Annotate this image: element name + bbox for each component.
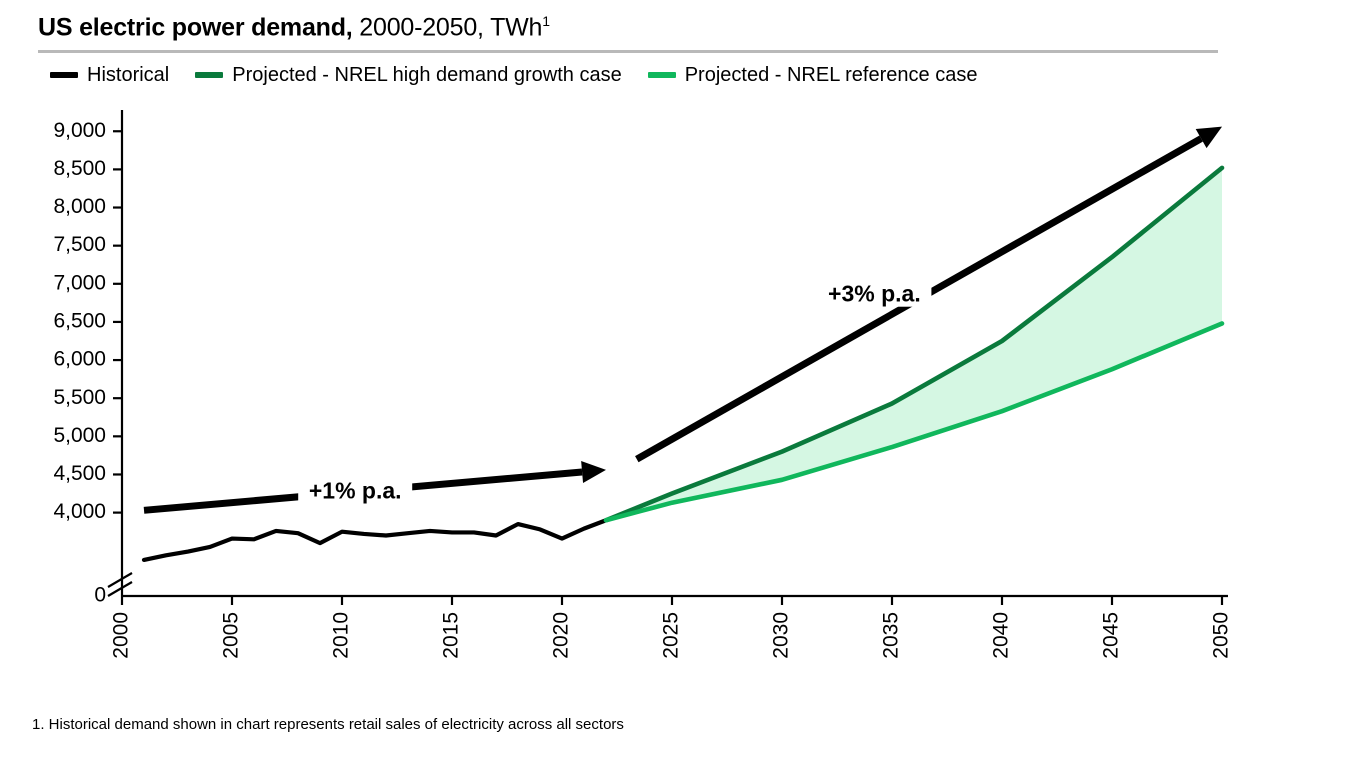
y-tick-label-5000: 5,000 [53, 424, 106, 447]
annotation-label-0: +1% p.a. [309, 477, 402, 503]
x-tick-label-2045: 2045 [1100, 612, 1123, 659]
chart-svg: 04,0004,5005,0005,5006,0006,5007,0007,50… [0, 96, 1346, 676]
legend-label-historical: Historical [87, 64, 169, 86]
y-tick-label-4000: 4,000 [53, 500, 106, 523]
x-tick-label-2035: 2035 [880, 612, 903, 659]
legend-item-historical[interactable]: Historical [50, 64, 169, 86]
x-tick-label-2025: 2025 [660, 612, 683, 659]
annotation-label-1: +3% p.a. [828, 281, 921, 307]
y-tick-label-8000: 8,000 [53, 195, 106, 218]
trend-arrow-head-0 [581, 461, 606, 483]
chart-page: US electric power demand, 2000-2050, TWh… [0, 0, 1346, 764]
legend-item-high[interactable]: Projected - NREL high demand growth case [195, 64, 621, 86]
y-tick-label-4500: 4,500 [53, 462, 106, 485]
x-tick-label-2000: 2000 [110, 612, 133, 659]
y-tick-label-5500: 5,500 [53, 386, 106, 409]
chart-legend: HistoricalProjected - NREL high demand g… [50, 64, 977, 86]
y-tick-label-8500: 8,500 [53, 157, 106, 180]
y-tick-label-0: 0 [94, 584, 106, 607]
legend-swatch-reference [648, 72, 676, 78]
legend-label-high: Projected - NREL high demand growth case [232, 64, 621, 86]
x-tick-label-2015: 2015 [440, 612, 463, 659]
legend-item-reference[interactable]: Projected - NREL reference case [648, 64, 978, 86]
x-tick-label-2050: 2050 [1210, 612, 1233, 659]
title-divider [38, 50, 1218, 53]
y-tick-label-7500: 7,500 [53, 233, 106, 256]
x-tick-label-2030: 2030 [770, 612, 793, 659]
footnote: 1. Historical demand shown in chart repr… [32, 715, 624, 735]
x-tick-label-2020: 2020 [550, 612, 573, 659]
chart-area: 04,0004,5005,0005,5006,0006,5007,0007,50… [0, 96, 1346, 676]
x-tick-label-2040: 2040 [990, 612, 1013, 659]
legend-swatch-high [195, 72, 223, 78]
legend-swatch-historical [50, 72, 78, 78]
x-tick-label-2010: 2010 [330, 612, 353, 659]
title-footnote-marker: 1 [542, 13, 550, 29]
y-tick-label-9000: 9,000 [53, 119, 106, 142]
y-tick-label-6500: 6,500 [53, 309, 106, 332]
x-tick-label-2005: 2005 [220, 612, 243, 659]
page-title: US electric power demand, 2000-2050, TWh… [38, 6, 1218, 42]
legend-label-reference: Projected - NREL reference case [685, 64, 978, 86]
y-tick-label-6000: 6,000 [53, 348, 106, 371]
y-tick-label-7000: 7,000 [53, 271, 106, 294]
title-block: US electric power demand, 2000-2050, TWh… [38, 6, 1218, 53]
projection-band [606, 168, 1222, 520]
title-rest: 2000-2050, TWh [353, 13, 543, 41]
title-bold: US electric power demand, [38, 13, 353, 41]
series-historical [144, 520, 606, 560]
